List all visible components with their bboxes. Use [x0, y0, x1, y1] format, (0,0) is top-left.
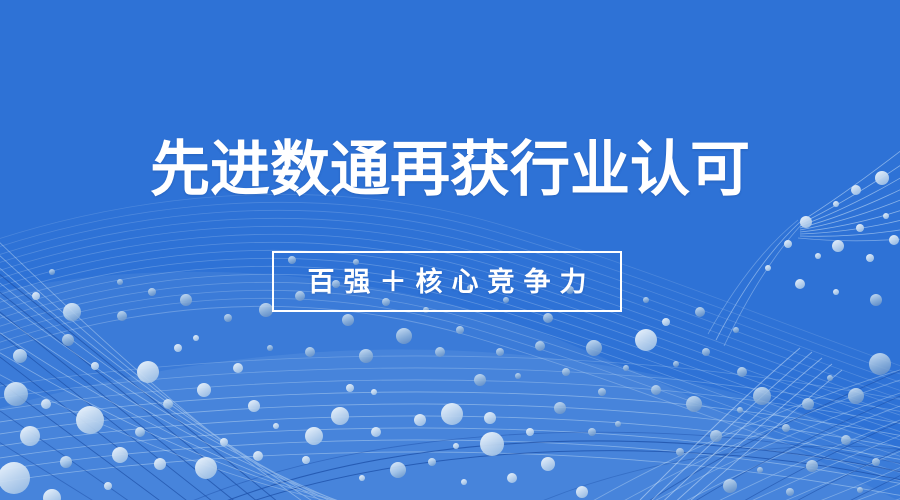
- banner-content: 先进数通再获行业认可 百强＋核心竞争力: [0, 0, 900, 500]
- subtitle-badge: 百强＋核心竞争力: [272, 251, 622, 312]
- subtitle-badge-label: 百强＋核心竞争力: [299, 267, 596, 297]
- page-title: 先进数通再获行业认可: [0, 133, 900, 207]
- promo-banner: 先进数通再获行业认可 百强＋核心竞争力: [0, 0, 900, 500]
